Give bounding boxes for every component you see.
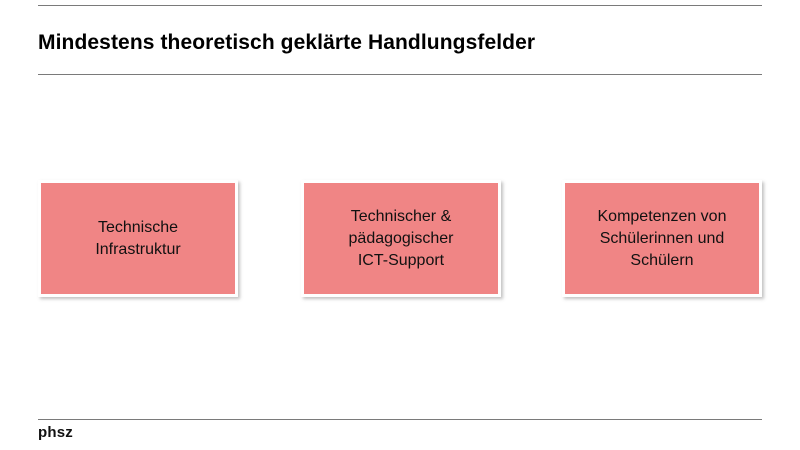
page-title: Mindestens theoretisch geklärte Handlung… xyxy=(38,29,762,57)
header-rule-top xyxy=(38,5,762,6)
handlungsfeld-box-3[interactable]: Kompetenzen von Schülerinnen und Schüler… xyxy=(562,180,762,297)
handlungsfeld-box-2-label: Technischer & pädagogischer ICT-Support xyxy=(343,206,460,272)
slide-canvas: Mindestens theoretisch geklärte Handlung… xyxy=(0,0,800,450)
handlungsfeld-box-2[interactable]: Technischer & pädagogischer ICT-Support xyxy=(301,180,501,297)
footer-brand-logo: phsz xyxy=(38,424,73,441)
handlungsfeld-box-1[interactable]: Technische Infrastruktur xyxy=(38,180,238,297)
footer-rule xyxy=(38,419,762,420)
header-rule-bottom xyxy=(38,74,762,75)
handlungsfeld-box-3-label: Kompetenzen von Schülerinnen und Schüler… xyxy=(592,206,733,272)
handlungsfeld-box-1-label: Technische Infrastruktur xyxy=(89,217,186,261)
handlungsfelder-group: Technische Infrastruktur Technischer & p… xyxy=(0,180,800,300)
